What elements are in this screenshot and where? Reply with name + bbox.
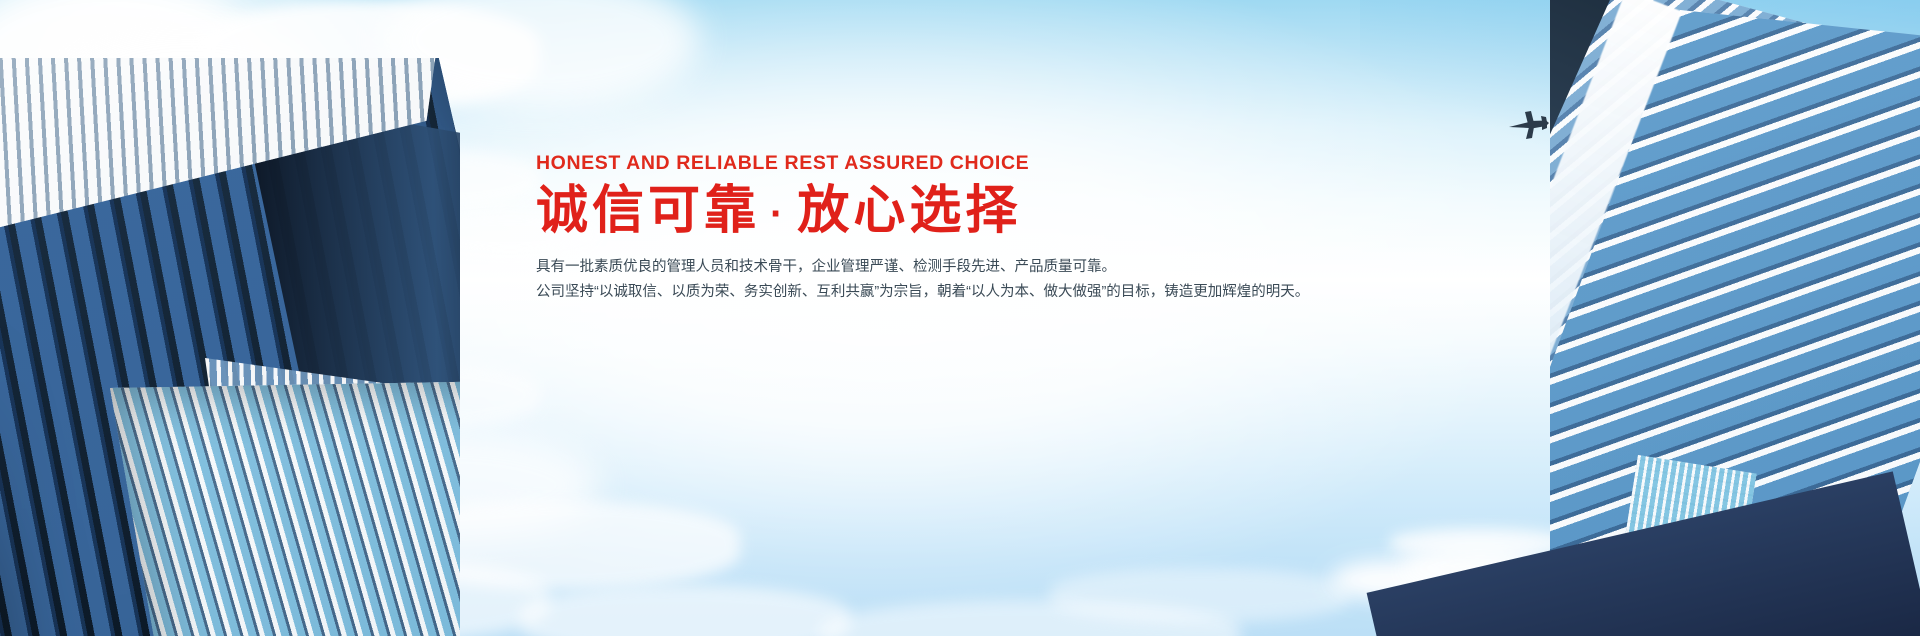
banner-body-line-1: 具有一批素质优良的管理人员和技术骨干，企业管理严谨、检测手段先进、产品质量可靠。 [536, 255, 1356, 280]
banner-copy: HONEST AND RELIABLE REST ASSURED CHOICE … [536, 152, 1356, 305]
headline-right: 放心选择 [797, 182, 1021, 240]
office-tower-lower-left [110, 381, 460, 636]
headline-left: 诚信可靠 [536, 182, 760, 240]
banner-body-line-2: 公司坚持“以诚取信、以质为荣、务实创新、互利共赢”为宗旨，朝着“以人为本、做大做… [536, 280, 1356, 305]
airplane-icon [1505, 108, 1551, 142]
headline-separator: · [760, 192, 797, 236]
hero-banner: HONEST AND RELIABLE REST ASSURED CHOICE … [0, 0, 1920, 636]
glass-skyscraper-left [0, 58, 460, 636]
page-title: 诚信可靠·放心选择 [536, 181, 1356, 242]
banner-eyebrow: HONEST AND RELIABLE REST ASSURED CHOICE [536, 152, 1356, 175]
